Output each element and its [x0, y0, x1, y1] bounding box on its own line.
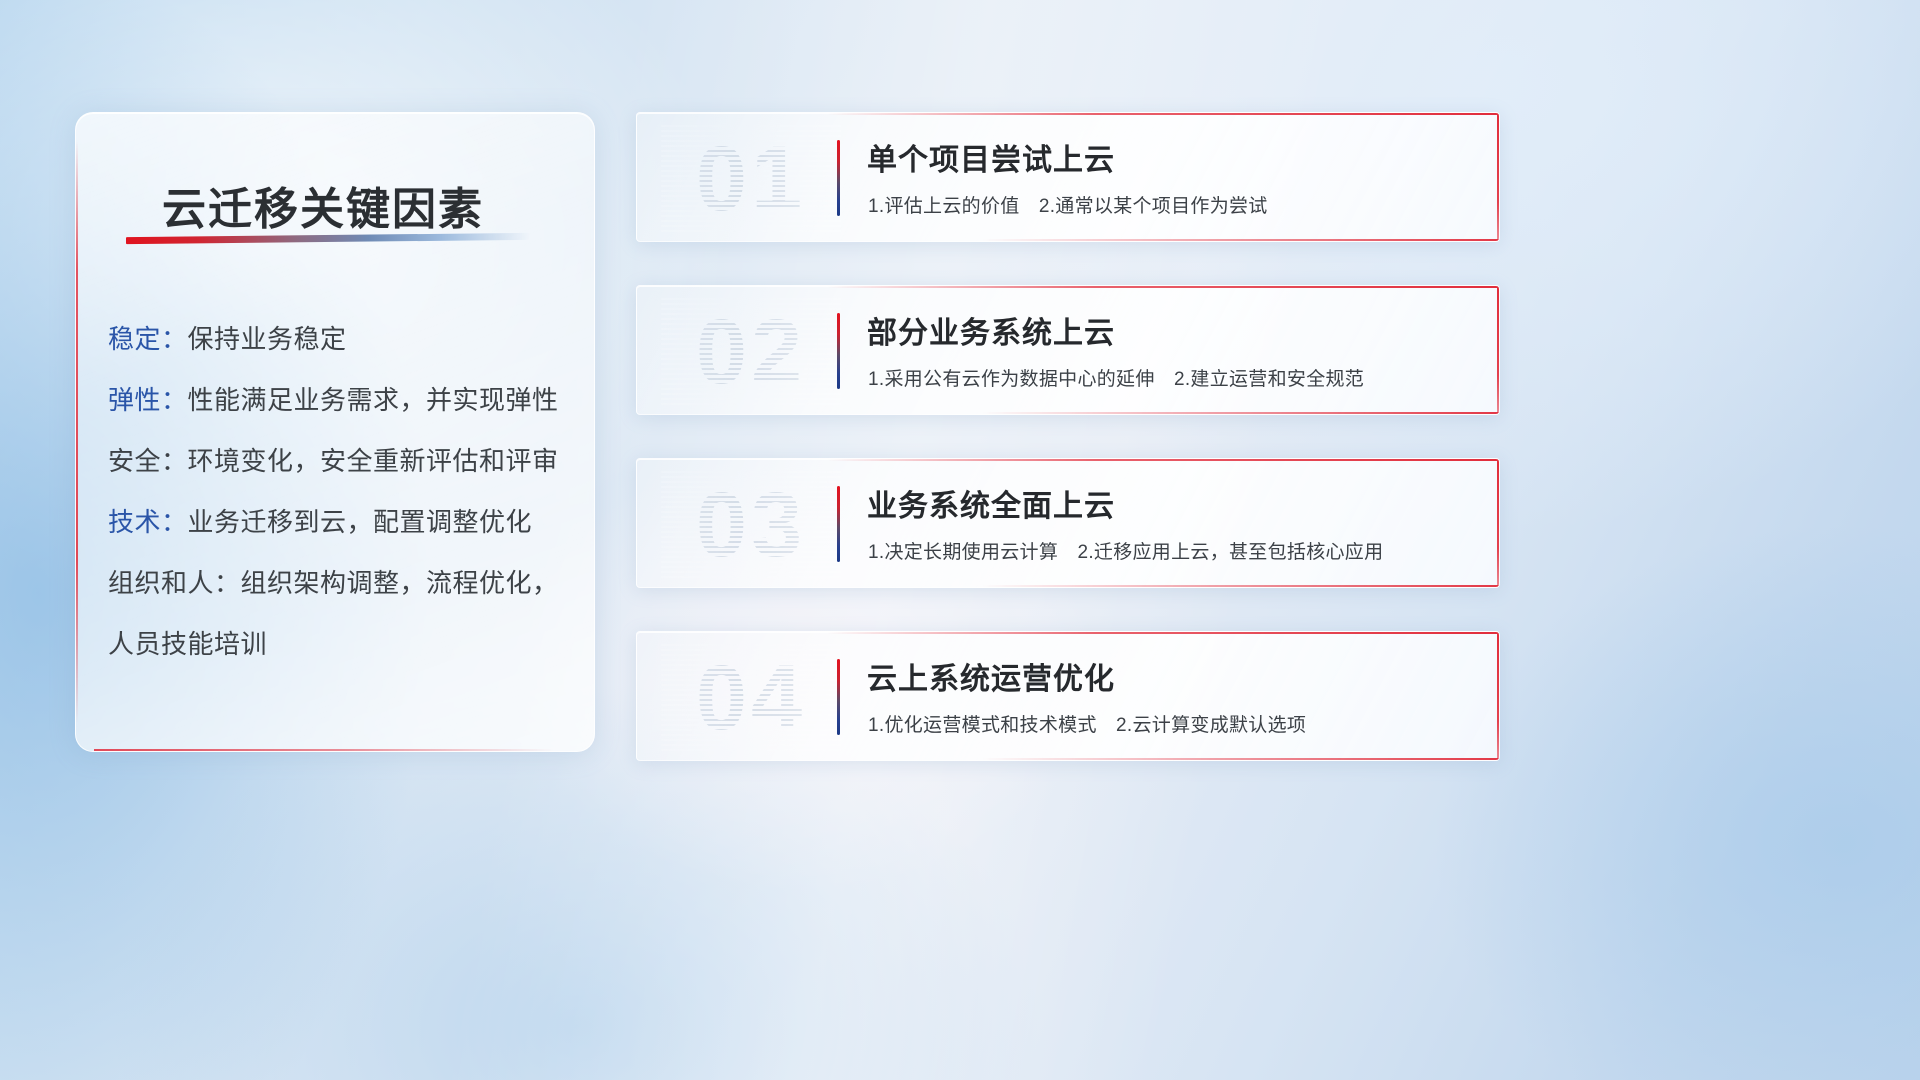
panel-left-accent-line	[76, 141, 78, 723]
list-item: 弹性：性能满足业务需求，并实现弹性	[108, 370, 576, 431]
list-item-key: 弹性：	[108, 385, 188, 415]
list-item-text: 业务迁移到云，配置调整优化	[188, 507, 533, 537]
list-item-text: 性能满足业务需求，并实现弹性	[188, 385, 559, 415]
list-item: 稳定：保持业务稳定	[108, 309, 576, 370]
step-title: 单个项目尝试上云	[867, 135, 1115, 179]
card-top-accent-line	[827, 113, 1499, 115]
step-card-04[interactable]: 04 云上系统运营优化 1.优化运营模式和技术模式 2.云计算变成默认选项	[636, 631, 1500, 761]
card-right-accent-line	[1497, 286, 1499, 414]
card-top-accent-line	[827, 632, 1499, 634]
card-right-accent-line	[1497, 632, 1499, 760]
list-item-text: 组织架构调整，流程优化，	[241, 568, 559, 598]
step-subtitle: 1.优化运营模式和技术模式 2.云计算变成默认选项	[868, 710, 1306, 737]
card-bottom-accent-line	[982, 412, 1499, 414]
card-bottom-accent-line	[982, 758, 1499, 760]
list-item: 技术：业务迁移到云，配置调整优化	[108, 492, 576, 553]
step-number: 04	[661, 644, 841, 752]
step-number: 03	[661, 471, 841, 579]
list-item-key: 安全：	[108, 446, 188, 476]
step-title: 业务系统全面上云	[867, 481, 1115, 525]
step-card-01[interactable]: 01 单个项目尝试上云 1.评估上云的价值 2.通常以某个项目作为尝试	[636, 112, 1500, 242]
step-number: 01	[661, 125, 841, 233]
list-item-text: 环境变化，安全重新评估和评审	[188, 446, 559, 476]
panel-bottom-accent-line	[94, 749, 554, 751]
card-right-accent-line	[1497, 113, 1499, 241]
list-item-key: 稳定：	[108, 324, 188, 354]
list-item-text: 人员技能培训	[108, 629, 267, 659]
step-card-02[interactable]: 02 部分业务系统上云 1.采用公有云作为数据中心的延伸 2.建立运营和安全规范	[636, 285, 1500, 415]
migration-steps-list: 01 单个项目尝试上云 1.评估上云的价值 2.通常以某个项目作为尝试 02 部…	[636, 112, 1500, 804]
card-top-accent-line	[827, 459, 1499, 461]
step-title: 云上系统运营优化	[867, 654, 1115, 698]
step-divider-bar	[837, 140, 840, 216]
list-item-text: 保持业务稳定	[188, 324, 347, 354]
step-divider-bar	[837, 486, 840, 562]
key-factors-list: 稳定：保持业务稳定 弹性：性能满足业务需求，并实现弹性 安全：环境变化，安全重新…	[108, 309, 576, 675]
step-card-03[interactable]: 03 业务系统全面上云 1.决定长期使用云计算 2.迁移应用上云，甚至包括核心应…	[636, 458, 1500, 588]
key-factors-panel: 云迁移关键因素 稳定：保持业务稳定 弹性：性能满足业务需求，并实现弹性 安全：环…	[75, 112, 595, 752]
list-item: 人员技能培训	[108, 614, 576, 675]
list-item-key: 技术：	[108, 507, 188, 537]
step-divider-bar	[837, 659, 840, 735]
step-subtitle: 1.决定长期使用云计算 2.迁移应用上云，甚至包括核心应用	[868, 537, 1383, 564]
card-right-accent-line	[1497, 459, 1499, 587]
list-item: 组织和人：组织架构调整，流程优化，	[108, 553, 576, 614]
list-item-key: 组织和人：	[108, 568, 241, 598]
step-divider-bar	[837, 313, 840, 389]
card-top-accent-line	[827, 286, 1499, 288]
step-subtitle: 1.评估上云的价值 2.通常以某个项目作为尝试	[868, 191, 1268, 218]
step-number: 02	[661, 298, 841, 406]
step-title: 部分业务系统上云	[867, 308, 1115, 352]
card-bottom-accent-line	[982, 239, 1499, 241]
page-title: 云迁移关键因素	[162, 173, 484, 237]
list-item: 安全：环境变化，安全重新评估和评审	[108, 431, 576, 492]
card-bottom-accent-line	[982, 585, 1499, 587]
step-subtitle: 1.采用公有云作为数据中心的延伸 2.建立运营和安全规范	[868, 364, 1364, 391]
